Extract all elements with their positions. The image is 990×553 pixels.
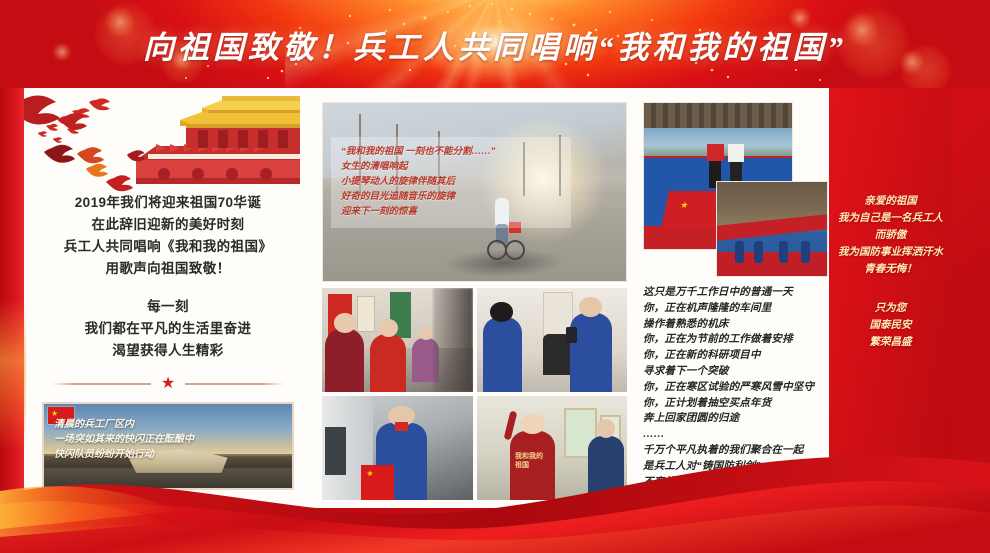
wish-line: 只为您 [837, 300, 944, 317]
bike-wheel [487, 240, 507, 260]
intro-line: 兵工人共同唱响《我和我的祖国》 [36, 236, 300, 258]
body-line: 操作着熟悉的机床 [643, 317, 823, 333]
second-line: 渴望获得人生精彩 [36, 340, 300, 362]
caption-line: 清晨的兵工厂区内 [54, 417, 284, 432]
worker-figure [570, 313, 612, 392]
body-line: 奔上回家团圆的归途 [643, 411, 823, 427]
intro-line: 用歌声向祖国致敬！ [36, 258, 300, 280]
singer-top [707, 144, 724, 162]
poster-root: 向祖国致敬！兵工人共同唱响“我和我的祖国” [0, 0, 990, 553]
crowd-person [735, 241, 744, 263]
pledge-line: 我为国防事业挥洒汗水 [837, 244, 944, 261]
pledge-line: 而骄傲 [837, 227, 944, 244]
caption-line: 迎来下一刻的惊喜 [341, 205, 561, 220]
person-head [419, 327, 434, 340]
crowd-person [779, 241, 788, 263]
body-line: 这只是万千工作日中的普通一天 [643, 285, 823, 301]
caption-line: 好奇的目光追随音乐的旋律 [341, 190, 561, 205]
photo-cyclist-street: “我和我的祖国 一刻也不能分割……” 女生的清唱响起 小提琴动人的旋律伴随其后 … [322, 102, 627, 282]
page-title: 向祖国致敬！兵工人共同唱响“我和我的祖国” [0, 0, 990, 88]
photo-women-singing [322, 288, 473, 392]
body-line: 寻求着下一个突破 [643, 364, 823, 380]
foreground-blur [433, 288, 472, 392]
pledge-line: 我为自己是一名兵工人 [837, 210, 944, 227]
left-intro-text: 2019年我们将迎来祖国70华诞 在此辞旧迎新的美好时刻 兵工人共同唱响《我和我… [36, 192, 300, 362]
crowd-person [754, 241, 763, 263]
second-line: 我们都在平凡的生活里奋进 [36, 318, 300, 340]
person-figure [370, 334, 406, 392]
crowd-person [801, 241, 810, 263]
gymnasium-photo-group: ★ [643, 102, 828, 277]
person-head [334, 313, 356, 332]
red-floor [717, 252, 827, 276]
red-panel-text: 亲爱的祖国 我为自己是一名兵工人 而骄傲 我为国防事业挥洒汗水 青春无悔！ 只为… [829, 88, 952, 351]
person-figure [325, 328, 364, 392]
held-phone [566, 327, 577, 343]
caption-line: 女生的清唱响起 [341, 160, 561, 175]
flag-star: ★ [679, 200, 689, 209]
star-icon: ★ [161, 376, 175, 392]
intro-line: 在此辞旧迎新的美好时刻 [36, 214, 300, 236]
wish-line: 繁荣昌盛 [837, 334, 944, 351]
body-line: 你，正在为节前的工作做着安排 [643, 332, 823, 348]
divider-line-left [51, 383, 151, 385]
wish-line: 国泰民安 [837, 317, 944, 334]
person-head [379, 319, 398, 338]
girl-head [520, 414, 545, 435]
red-collar [395, 422, 408, 431]
divider-line-right [185, 383, 285, 385]
worker-head [579, 297, 602, 317]
singer-top [728, 144, 745, 162]
body-line: 你，正在新的科研项目中 [643, 348, 823, 364]
left-edge-glow [0, 300, 26, 450]
worker-head [490, 302, 513, 321]
pledge-line: 青春无悔！ [837, 261, 944, 278]
bike-photo-caption: “我和我的祖国 一刻也不能分割……” 女生的清唱响起 小提琴动人的旋律伴随其后 … [331, 137, 571, 228]
worker-figure [483, 317, 522, 392]
photo-gymnasium-crowd [716, 181, 828, 277]
header-banner: 向祖国致敬！兵工人共同唱响“我和我的祖国” [0, 0, 990, 88]
second-line: 每一刻 [36, 296, 300, 318]
body-line: 你，正计划着抽空买点年货 [643, 396, 823, 412]
body-line: 你，正在寒区试验的严寒风雪中坚守 [643, 380, 823, 396]
roof-beams [644, 103, 792, 128]
caption-line: “我和我的祖国 一刻也不能分割……” [341, 145, 561, 160]
bike-wheel [505, 240, 525, 260]
caption-line: 小提琴动人的旋律伴随其后 [341, 175, 561, 190]
pledge-line: 亲爱的祖国 [837, 193, 944, 210]
star-divider: ★ [43, 376, 293, 392]
wish-block: 只为您 国泰民安 繁荣昌盛 [837, 300, 944, 351]
red-carpet-strip [717, 214, 827, 241]
dove-flock-right-icon [14, 92, 144, 202]
wall-notice [357, 296, 375, 331]
body-line: 你，正在机声隆隆的车间里 [643, 301, 823, 317]
red-silk-wave [0, 433, 990, 553]
text-gap [36, 280, 300, 296]
photo-two-workers-blue-uniform [477, 288, 628, 392]
